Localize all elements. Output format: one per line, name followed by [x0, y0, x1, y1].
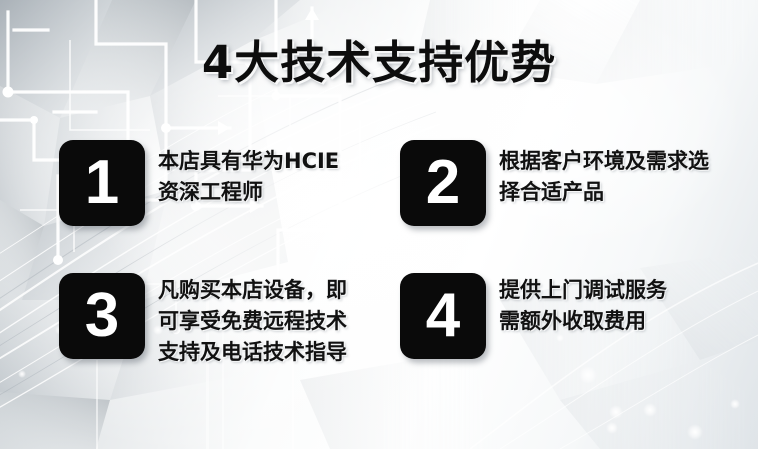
feature-list: 1 本店具有华为HCIE 资深工程师 2 根据客户环境及需求选 择合适产品 3 …: [0, 140, 758, 413]
feature-text-line: 资深工程师: [158, 177, 339, 208]
feature-row-top: 1 本店具有华为HCIE 资深工程师 2 根据客户环境及需求选 择合适产品: [0, 140, 758, 273]
feature-item-3: 3 凡购买本店设备，即 可享受免费远程技术 支持及电话技术指导: [0, 273, 379, 413]
feature-text-4: 提供上门调试服务 需额外收取费用: [499, 273, 667, 337]
feature-text-line: 支持及电话技术指导: [158, 337, 347, 368]
feature-text-3: 凡购买本店设备，即 可享受免费远程技术 支持及电话技术指导: [158, 273, 347, 368]
feature-text-line: 根据客户环境及需求选: [499, 146, 709, 177]
feature-number-badge-1: 1: [59, 140, 145, 226]
page-title: 4大技术支持优势: [0, 36, 758, 90]
feature-number-badge-4: 4: [400, 273, 486, 359]
feature-text-1: 本店具有华为HCIE 资深工程师: [158, 140, 339, 208]
feature-text-line: 凡购买本店设备，即: [158, 275, 347, 306]
feature-item-4: 4 提供上门调试服务 需额外收取费用: [379, 273, 730, 413]
feature-number-badge-2: 2: [400, 140, 486, 226]
feature-number-badge-3: 3: [59, 273, 145, 359]
feature-text-line: 提供上门调试服务: [499, 275, 667, 306]
feature-text-line: 本店具有华为HCIE: [158, 146, 339, 177]
feature-text-line: 需额外收取费用: [499, 306, 667, 337]
feature-text-line: 择合适产品: [499, 177, 709, 208]
feature-item-2: 2 根据客户环境及需求选 择合适产品: [379, 140, 730, 273]
feature-text-2: 根据客户环境及需求选 择合适产品: [499, 140, 709, 208]
feature-item-1: 1 本店具有华为HCIE 资深工程师: [0, 140, 379, 273]
feature-text-line: 可享受免费远程技术: [158, 306, 347, 337]
feature-row-bottom: 3 凡购买本店设备，即 可享受免费远程技术 支持及电话技术指导 4 提供上门调试…: [0, 273, 758, 413]
promo-banner: 4大技术支持优势 1 本店具有华为HCIE 资深工程师 2 根据客户环境及需求选…: [0, 0, 758, 449]
